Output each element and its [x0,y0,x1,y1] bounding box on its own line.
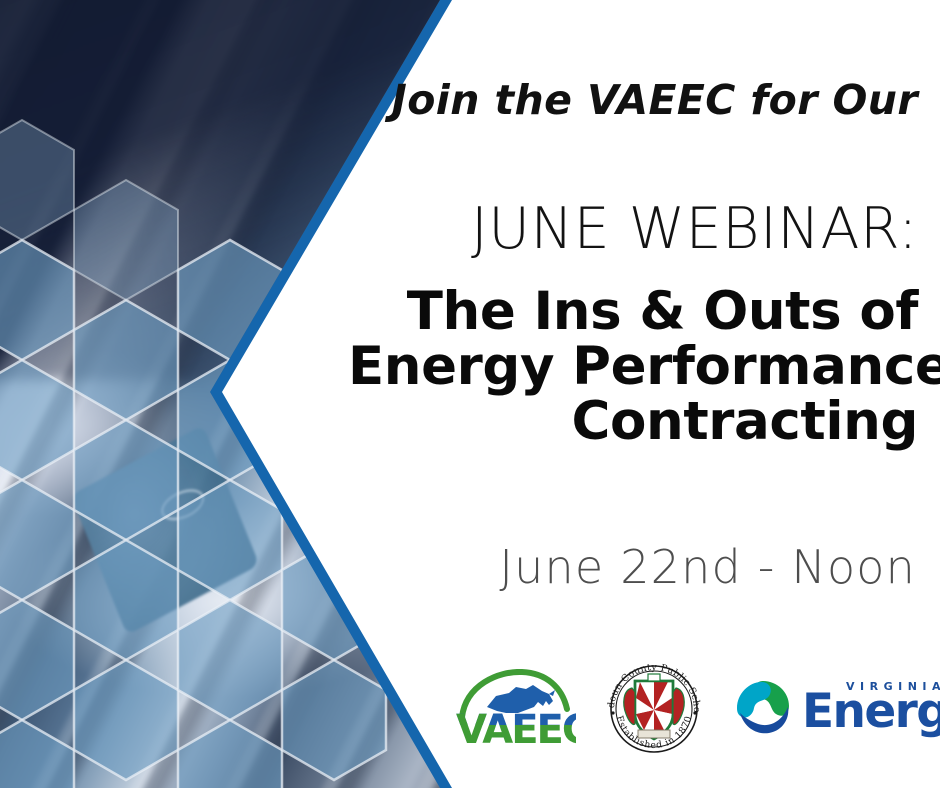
virginia-energy-word: Energy [802,688,940,735]
loudoun-county-public-schools-seal: Loudoun County Public Schools Establishe… [602,658,706,758]
virginia-energy-swirl-graphic [732,677,794,739]
headline-bold-line-2: Energy Performance [348,339,918,394]
seal-dot-left [611,711,614,714]
headline-bold: The Ins & Outs of Energy Performance Con… [348,284,918,449]
headline-bold-line-1: The Ins & Outs of [348,284,918,339]
virginia-energy-swirl-icon [732,677,794,739]
vaeec-logo: VAEEC VAEEC V [454,669,576,747]
event-datetime: June 22nd - Noon [346,540,916,594]
kicker-text: Join the VAEEC for Our [348,76,918,124]
headline-thin: JUNE WEBINAR: [348,196,918,262]
webinar-promo-poster: Join the VAEEC for Our JUNE WEBINAR: The… [0,0,940,788]
sponsor-logo-row: VAEEC VAEEC V [430,650,930,765]
headline-bold-line-3: Contracting [348,394,918,449]
vaeec-logo-graphic: VAEEC VAEEC V [454,669,576,747]
vaeec-virginia-tip [549,690,555,696]
virginia-energy-wordmark: VIRGINIA Energy [802,681,940,735]
virginia-energy-logo: VIRGINIA Energy [732,671,930,745]
loudoun-seal-graphic: Loudoun County Public Schools Establishe… [602,658,706,758]
